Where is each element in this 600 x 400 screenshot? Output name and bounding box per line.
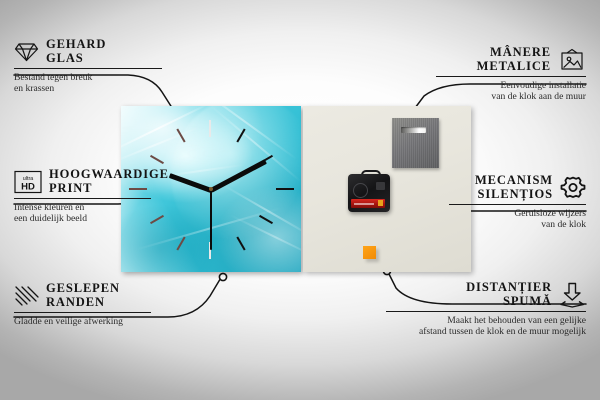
product-image	[121, 106, 471, 272]
gear-icon	[560, 175, 586, 200]
battery-label	[354, 203, 374, 205]
feature-subtitle: Maakt het behouden van een gelijke afsta…	[386, 315, 586, 338]
clock-hub	[209, 187, 213, 191]
feature-title: MÂNERE METALICE	[477, 46, 551, 73]
feature-foam-spacer: DISTANȚIER SPUMĂ Maakt het behouden van …	[386, 281, 586, 338]
feature-silent-mechanism: MECANISM SILENȚIOS Geruisloze wijzers va…	[449, 174, 586, 231]
feature-title: HOOGWAARDIGE PRINT	[49, 168, 169, 195]
feature-header: DISTANȚIER SPUMĂ	[386, 281, 586, 308]
hanger-slot	[401, 127, 426, 133]
feature-subtitle: Eenvoudige installatie van de klok aan d…	[436, 80, 586, 103]
feature-subtitle: Gladde en veilige afwerking	[14, 316, 154, 327]
mechanism-dial	[353, 183, 368, 198]
feature-header: ultra HD HOOGWAARDIGE PRINT	[14, 168, 154, 195]
feature-metal-handles: MÂNERE METALICE Eenvoudige installatie v…	[436, 46, 586, 103]
feature-tempered-glass: GEHARD GLAS Bestand tegen breuk en krass…	[14, 38, 164, 95]
mechanism-panel	[376, 182, 385, 190]
feature-rule	[386, 311, 586, 312]
feature-header: GESLEPEN RANDEN	[14, 282, 154, 309]
feature-rule	[449, 204, 586, 205]
feature-rule	[14, 312, 151, 313]
foam-spacer-piece	[363, 246, 376, 259]
ultra-hd-icon: ultra HD	[14, 170, 42, 194]
feature-title: DISTANȚIER SPUMĂ	[466, 281, 552, 308]
feature-rule	[14, 68, 162, 69]
infographic-canvas: GEHARD GLAS Bestand tegen breuk en krass…	[0, 0, 600, 400]
feature-title: MECANISM SILENȚIOS	[475, 174, 553, 201]
feature-subtitle: Geruisloze wijzers van de klok	[449, 208, 586, 231]
feature-header: GEHARD GLAS	[14, 38, 164, 65]
clock-mechanism	[348, 170, 390, 212]
feature-rule	[436, 76, 586, 77]
diamond-icon	[14, 41, 39, 63]
metal-hanger	[392, 118, 439, 168]
feature-polished-edges: GESLEPEN RANDEN Gladde en veilige afwerk…	[14, 282, 154, 327]
feature-high-quality-print: ultra HD HOOGWAARDIGE PRINT Intense kleu…	[14, 168, 154, 225]
wall-hanger-frame-icon	[558, 48, 586, 72]
feature-title: GESLEPEN RANDEN	[46, 282, 120, 309]
clock-back	[303, 106, 471, 272]
battery	[351, 199, 385, 208]
svg-text:HD: HD	[21, 181, 35, 192]
feature-subtitle: Bestand tegen breuk en krassen	[14, 72, 164, 95]
tick-3	[276, 188, 294, 190]
feature-header: MÂNERE METALICE	[436, 46, 586, 73]
second-hand	[210, 190, 212, 250]
feature-title: GEHARD GLAS	[46, 38, 106, 65]
battery-plus-terminal	[378, 200, 383, 206]
tick-12	[209, 120, 211, 137]
mechanism-body	[348, 174, 390, 212]
feature-rule	[14, 198, 151, 199]
polished-edges-icon	[14, 285, 39, 307]
down-arrow-spacer-icon	[559, 282, 586, 308]
feature-header: MECANISM SILENȚIOS	[449, 174, 586, 201]
endpoint-polished-edges	[219, 273, 226, 280]
feature-subtitle: Intense kleuren en een duidelijk beeld	[14, 202, 154, 225]
